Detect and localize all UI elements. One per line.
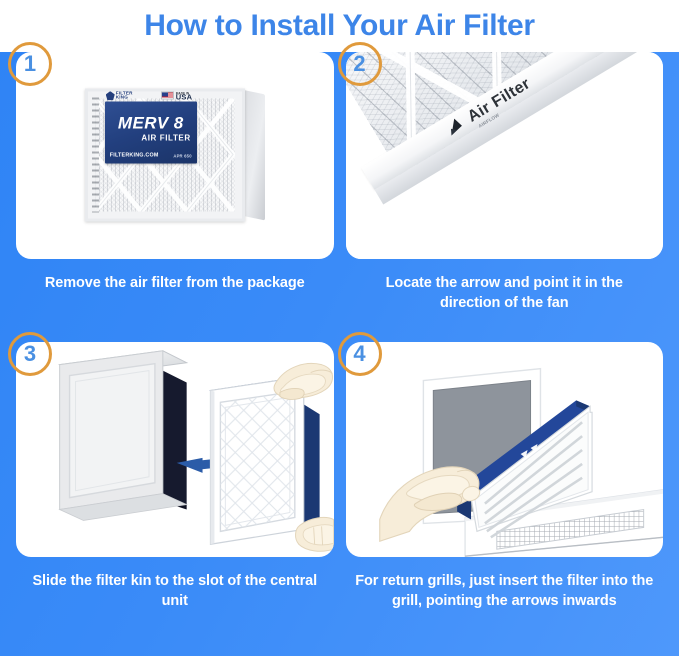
step-number-2: 2 [353,53,365,75]
infographic-page: How to Install Your Air Filter [0,0,679,656]
merv-rating: MERV 8 [105,114,197,131]
page-title: How to Install Your Air Filter [144,11,534,41]
step-panel-4: 4 For return grills, just insert the fil… [346,342,664,656]
step-card-2-image: Air Filter AIRFLOW [346,52,664,259]
step-card-4: 4 [346,342,664,557]
apr-rating: APR 650 [173,153,191,158]
air-filter-corner-arrow-photo: Air Filter AIRFLOW [346,52,664,259]
country-text: USA [176,96,192,101]
step-caption-1: Remove the air filter from the package [26,273,324,293]
step-card-1: FILTER KING MADE IN USA [16,52,334,259]
step-card-2: Air Filter AIRFLOW 2 [346,52,664,259]
step-card-3-image [16,342,334,557]
step-badge-1: 1 [8,42,52,86]
brand-name-line2: KING [116,96,133,101]
step-badge-3: 3 [8,332,52,376]
step-card-3: 3 [16,342,334,557]
filter-king-logo-icon: FILTER KING [106,91,133,100]
step-caption-2: Locate the arrow and point it in the dir… [355,273,653,313]
step-card-4-image [346,342,664,557]
step-panel-2: Air Filter AIRFLOW 2 Locate the arrow an… [346,52,664,342]
filter-brand-label: FILTER KING MADE IN USA [105,101,197,163]
made-in-usa-badge: MADE IN USA [161,91,192,100]
slide-filter-into-unit-illustration [16,342,334,557]
step-number-3: 3 [24,343,36,365]
step-number-1: 1 [24,53,36,75]
filter-front-face: FILTER KING MADE IN USA [85,88,245,221]
filter-edge-texture [92,97,99,212]
step-badge-4: 4 [338,332,382,376]
product-type: AIR FILTER [105,134,191,142]
step-card-1-image: FILTER KING MADE IN USA [16,52,334,259]
header: How to Install Your Air Filter [0,0,679,52]
step-caption-3: Slide the filter kin to the slot of the … [26,571,324,611]
air-filter-product-photo: FILTER KING MADE IN USA [85,88,265,223]
step-panel-1: FILTER KING MADE IN USA [16,52,334,342]
step-number-4: 4 [353,343,365,365]
insert-filter-into-return-grill-illustration [346,342,664,557]
step-panel-3: 3 Slide the filter kin to the slot of th… [16,342,334,656]
filter-corner-rotated-group: Air Filter AIRFLOW [346,52,664,253]
steps-grid: FILTER KING MADE IN USA [0,52,679,656]
step-badge-2: 2 [338,42,382,86]
brand-website: FILTERKING.COM [110,152,159,158]
step-caption-4: For return grills, just insert the filte… [355,571,653,611]
usa-flag-icon [161,92,174,100]
king-crest-icon [106,91,115,100]
